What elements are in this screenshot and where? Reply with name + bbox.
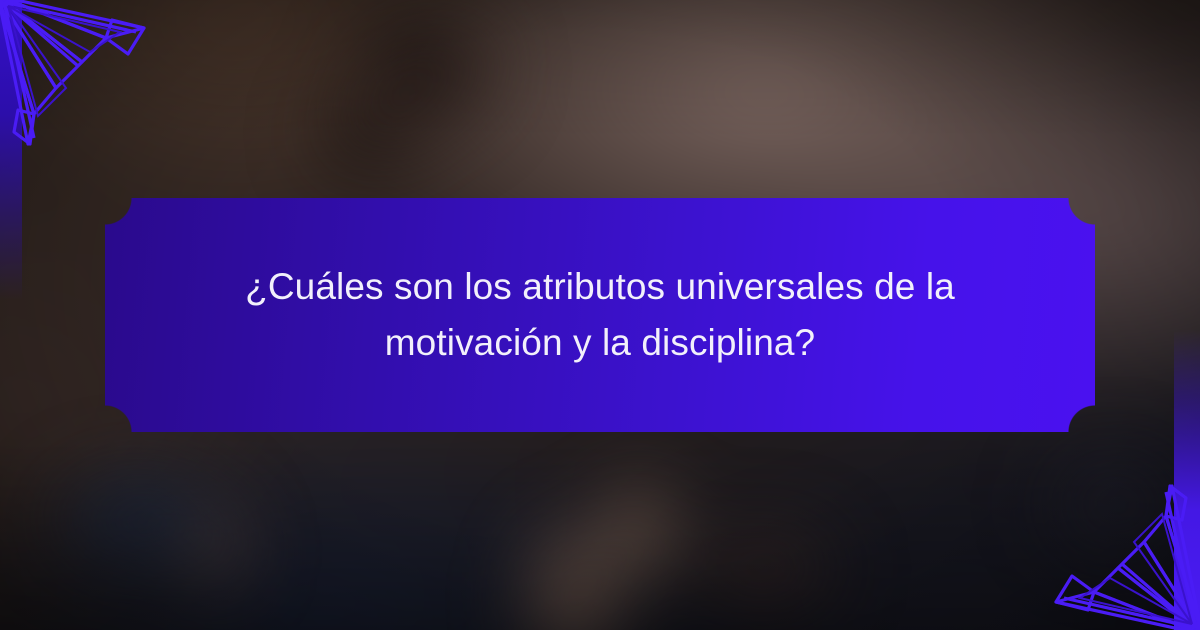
left-accent-strip — [0, 0, 22, 300]
right-accent-strip — [1174, 330, 1200, 630]
quote-card-canvas: ¿Cuáles son los atributos universales de… — [0, 0, 1200, 630]
question-text: ¿Cuáles son los atributos universales de… — [166, 259, 1034, 371]
question-card: ¿Cuáles son los atributos universales de… — [105, 198, 1095, 432]
